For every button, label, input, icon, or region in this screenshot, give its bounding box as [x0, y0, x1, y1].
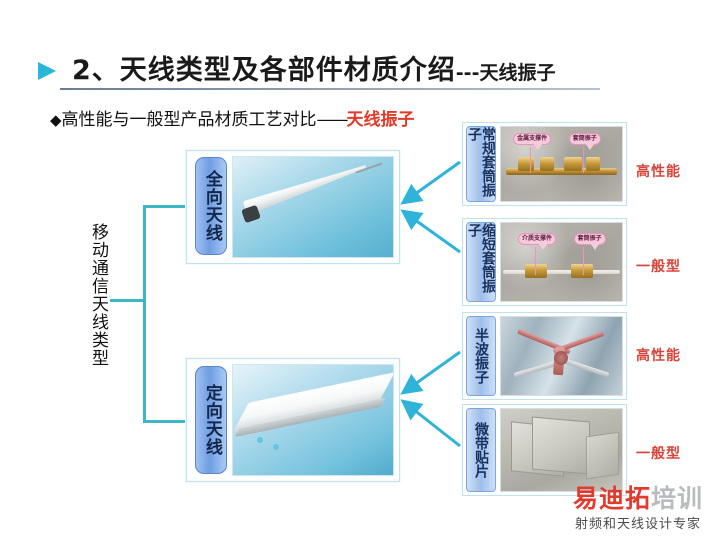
detail-panel-conventional-sleeve-dipole: 常规套筒振子 金属支撑件 套筒振子: [462, 122, 627, 206]
whip-antenna-photo: [232, 156, 394, 258]
bracket-arm-top: [143, 205, 190, 208]
brand-logo: 易迪拓培训 射频和天线设计专家: [562, 486, 714, 532]
sleeve-segment-shape: [518, 157, 534, 171]
detail-panel-half-wave-dipole: 半波振子: [462, 312, 627, 400]
detail-label-half-wave-dipole[interactable]: 半波振子: [466, 316, 496, 396]
arrow-detail3-to-directional: [398, 348, 464, 398]
antenna-label-omnidirectional[interactable]: 全向天线: [195, 157, 227, 255]
detail-label-microstrip-patch[interactable]: 微带贴片: [466, 408, 496, 492]
logo-part-1: 易迪拓: [573, 484, 651, 513]
white-rod-shape: [503, 270, 619, 274]
logo-tagline: 射频和天线设计专家: [562, 513, 714, 532]
sleeve-segment-shape: [586, 157, 600, 171]
bracket-stem: [110, 299, 145, 302]
arrow-detail1-to-omni: [398, 158, 464, 208]
grade-label-high-performance-1: 高性能: [636, 161, 681, 181]
antenna-label-directional[interactable]: 定向天线: [195, 366, 227, 474]
whip-rod-shape: [243, 160, 369, 216]
callout-dielectric-support: 介质支撑件: [518, 233, 556, 245]
grade-label-general-type-2: 一般型: [636, 256, 681, 276]
callout-leader-line: [583, 147, 584, 173]
microstrip-patch-photo: [500, 408, 623, 492]
sleeve-segment-shape: [525, 264, 547, 278]
callout-leader-line: [530, 147, 531, 173]
detail-label-shortened-sleeve-dipole[interactable]: 缩短套筒振子: [466, 222, 496, 302]
diamond-bullet-icon: ◆: [50, 111, 62, 129]
arrow-detail2-to-omni: [398, 206, 464, 258]
sleeve-segment-shape: [571, 264, 593, 278]
title-bullet-triangle-icon: [38, 62, 56, 80]
panel-connector-icon: [257, 437, 263, 443]
page-title: 2、天线类型及各部件材质介绍---天线振子: [72, 48, 555, 87]
panel-antenna-photo: [232, 364, 394, 476]
patch-plate-shape: [532, 416, 590, 474]
callout-leader-line: [583, 247, 584, 275]
logo-part-2: 培训: [651, 484, 703, 513]
subtitle-text: 高性能与一般型产品材质工艺对比: [62, 110, 317, 130]
title-number: 2、: [72, 55, 120, 86]
grade-label-high-performance-3: 高性能: [636, 345, 681, 365]
patch-plate-shape: [586, 431, 619, 479]
category-vertical-label: 移动通信天线类型: [80, 205, 106, 385]
slide-canvas: 2、天线类型及各部件材质介绍---天线振子 ◆高性能与一般型产品材质工艺对比——…: [0, 0, 720, 540]
title-underline-divider: [60, 88, 600, 90]
subtitle-dash: ——: [317, 110, 347, 130]
callout-metal-support: 金属支撑件: [513, 133, 551, 145]
callout-sleeve-dipole: 套筒振子: [569, 133, 601, 145]
bracket-arm-bottom: [143, 420, 190, 423]
brass-sleeve-dipole-photo: 金属支撑件 套筒振子: [500, 126, 623, 202]
subtitle: ◆高性能与一般型产品材质工艺对比——天线振子: [50, 105, 415, 130]
logo-wordmark: 易迪拓培训: [562, 486, 714, 511]
detail-panel-microstrip-patch: 微带贴片: [462, 404, 627, 496]
title-suffix: ---天线振子: [456, 62, 556, 84]
sleeve-segment-shape: [564, 157, 582, 171]
detail-label-conventional-sleeve-dipole[interactable]: 常规套筒振子: [466, 126, 496, 202]
panel-connector-icon: [273, 444, 279, 450]
callout-sleeve-dipole: 套筒振子: [574, 233, 606, 245]
shortened-sleeve-dipole-photo: 介质支撑件 套筒振子: [500, 222, 623, 302]
arrow-detail4-to-directional: [398, 396, 464, 452]
callout-leader-line: [535, 247, 536, 275]
half-wave-crossed-dipole-photo: [500, 316, 623, 396]
grade-label-general-type-4: 一般型: [636, 443, 681, 463]
subtitle-highlight: 天线振子: [347, 110, 415, 130]
title-main-text: 天线类型及各部件材质介绍: [120, 55, 456, 86]
detail-panel-shortened-sleeve-dipole: 缩短套筒振子 介质支撑件 套筒振子: [462, 218, 627, 306]
bracket-vertical: [143, 205, 146, 423]
sleeve-segment-shape: [540, 157, 554, 171]
